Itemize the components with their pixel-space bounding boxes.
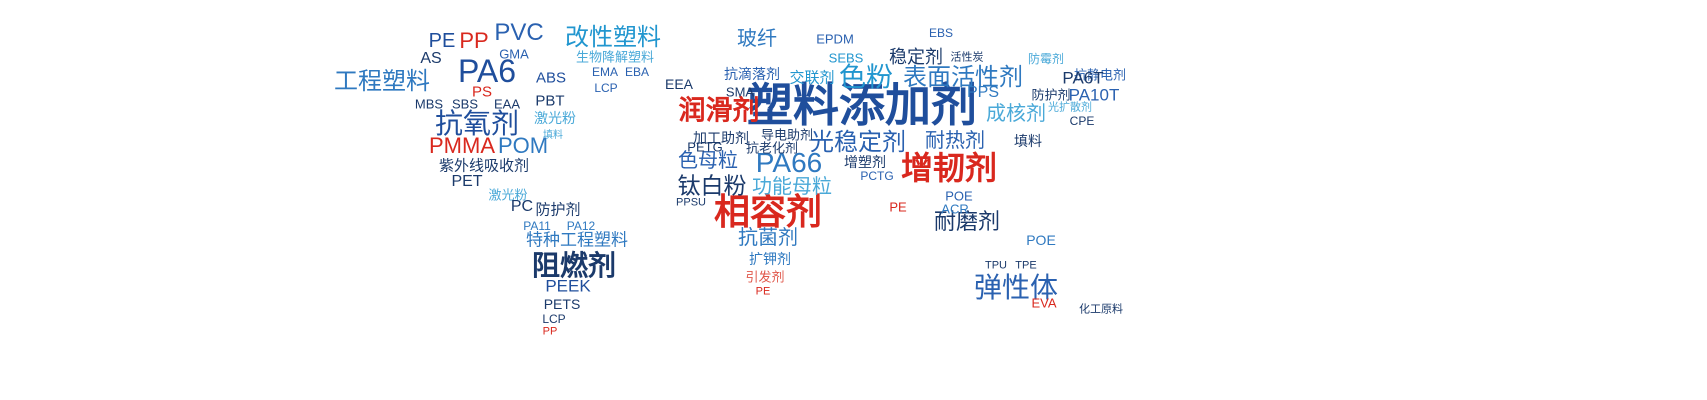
cloud-word[interactable]: 润滑剂 <box>679 98 760 125</box>
cloud-word[interactable]: ABS <box>536 71 566 86</box>
cloud-word[interactable]: 稳定剂 <box>889 48 943 66</box>
cloud-word[interactable]: 紫外线吸收剂 <box>439 159 529 174</box>
cloud-word[interactable]: PC <box>511 199 533 215</box>
cloud-word[interactable]: 成核剂 <box>986 104 1046 124</box>
cloud-word[interactable]: POM <box>498 135 548 157</box>
cloud-word[interactable]: 填料 <box>1014 134 1042 148</box>
cloud-word[interactable]: 防护剂 <box>1031 89 1070 102</box>
cloud-word[interactable]: SMA <box>726 86 754 99</box>
cloud-word[interactable]: SBS <box>452 98 478 111</box>
cloud-word[interactable]: PA6T <box>1062 70 1103 87</box>
cloud-word[interactable]: 填料 <box>543 131 563 141</box>
cloud-word[interactable]: 活性炭 <box>951 53 984 64</box>
cloud-word[interactable]: 生物降解塑料 <box>576 51 654 64</box>
cloud-word[interactable]: GMA <box>499 48 529 61</box>
cloud-word[interactable]: PEEK <box>545 278 590 295</box>
cloud-word[interactable]: 工程塑料 <box>334 70 430 94</box>
cloud-word[interactable]: EVA <box>1031 297 1056 310</box>
cloud-word[interactable]: PET <box>451 174 482 190</box>
cloud-word[interactable]: PE <box>889 201 906 214</box>
cloud-word[interactable]: 交联剂 <box>789 71 834 86</box>
cloud-word[interactable]: PA11 <box>523 220 551 232</box>
cloud-word[interactable]: 功能母粒 <box>752 177 832 197</box>
cloud-word[interactable]: EEA <box>665 77 693 91</box>
cloud-word[interactable]: 防护剂 <box>535 203 580 218</box>
cloud-word[interactable]: LCP <box>542 313 565 325</box>
cloud-word[interactable]: PPS <box>967 85 999 101</box>
cloud-word[interactable]: 扩钾剂 <box>749 252 791 266</box>
word-cloud-canvas: 塑料添加剂相容剂增韧剂阻燃剂润滑剂色粉弹性体表面活性剂改性塑料工程塑料抗氧剂光稳… <box>0 0 1707 400</box>
cloud-word[interactable]: EPDM <box>816 33 854 46</box>
cloud-word[interactable]: 钛白粉 <box>678 175 747 198</box>
cloud-word[interactable]: PP <box>543 327 558 338</box>
cloud-word[interactable]: 改性塑料 <box>565 26 661 50</box>
cloud-word[interactable]: EBA <box>625 66 649 78</box>
cloud-word[interactable]: 激光粉 <box>534 111 576 125</box>
cloud-word[interactable]: PP <box>459 30 488 52</box>
cloud-word[interactable]: 耐热剂 <box>925 131 985 151</box>
cloud-word[interactable]: 特种工程塑料 <box>526 232 628 249</box>
cloud-word[interactable]: 增塑剂 <box>844 155 886 169</box>
cloud-word[interactable]: EMA <box>592 66 618 78</box>
cloud-word[interactable]: PETS <box>544 297 581 311</box>
cloud-word[interactable]: AS <box>420 51 441 67</box>
cloud-word[interactable]: 抗菌剂 <box>738 228 798 248</box>
cloud-word[interactable]: 抗滴落剂 <box>724 67 780 81</box>
cloud-word[interactable]: 表面活性剂 <box>903 66 1023 90</box>
cloud-word[interactable]: EBS <box>929 27 953 39</box>
cloud-word[interactable]: 防霉剂 <box>1028 53 1064 65</box>
cloud-word[interactable]: TPE <box>1015 261 1036 272</box>
cloud-word[interactable]: LCP <box>594 82 617 94</box>
cloud-word[interactable]: PETG <box>687 141 722 154</box>
cloud-word[interactable]: PE <box>756 287 771 298</box>
cloud-word[interactable]: PA12 <box>567 220 595 232</box>
cloud-word[interactable]: PBT <box>535 94 564 109</box>
cloud-word[interactable]: TPU <box>985 261 1007 272</box>
cloud-word[interactable]: 相容剂 <box>714 194 822 230</box>
cloud-word[interactable]: PMMA <box>429 135 495 157</box>
cloud-word[interactable]: MBS <box>415 98 443 111</box>
cloud-word[interactable]: 色粉 <box>839 65 893 92</box>
cloud-word[interactable]: PE <box>429 31 456 51</box>
cloud-word[interactable]: PPSU <box>676 198 706 209</box>
cloud-word[interactable]: POE <box>1026 233 1056 247</box>
cloud-word[interactable]: PCTG <box>860 170 893 182</box>
cloud-word[interactable]: ACR <box>941 203 968 216</box>
cloud-word[interactable]: 引发剂 <box>745 271 784 284</box>
cloud-word[interactable]: SEBS <box>829 52 864 65</box>
cloud-word[interactable]: CPE <box>1070 115 1095 127</box>
cloud-word[interactable]: 抗老化剂 <box>746 142 798 155</box>
cloud-word[interactable]: 增韧剂 <box>901 152 997 184</box>
cloud-word[interactable]: 化工原料 <box>1079 305 1123 316</box>
cloud-word[interactable]: EAA <box>494 98 520 111</box>
cloud-word[interactable]: PVC <box>494 21 543 45</box>
cloud-word[interactable]: PA10T <box>1069 87 1120 104</box>
cloud-word[interactable]: 光稳定剂 <box>810 131 906 155</box>
cloud-word[interactable]: 玻纤 <box>737 29 777 49</box>
